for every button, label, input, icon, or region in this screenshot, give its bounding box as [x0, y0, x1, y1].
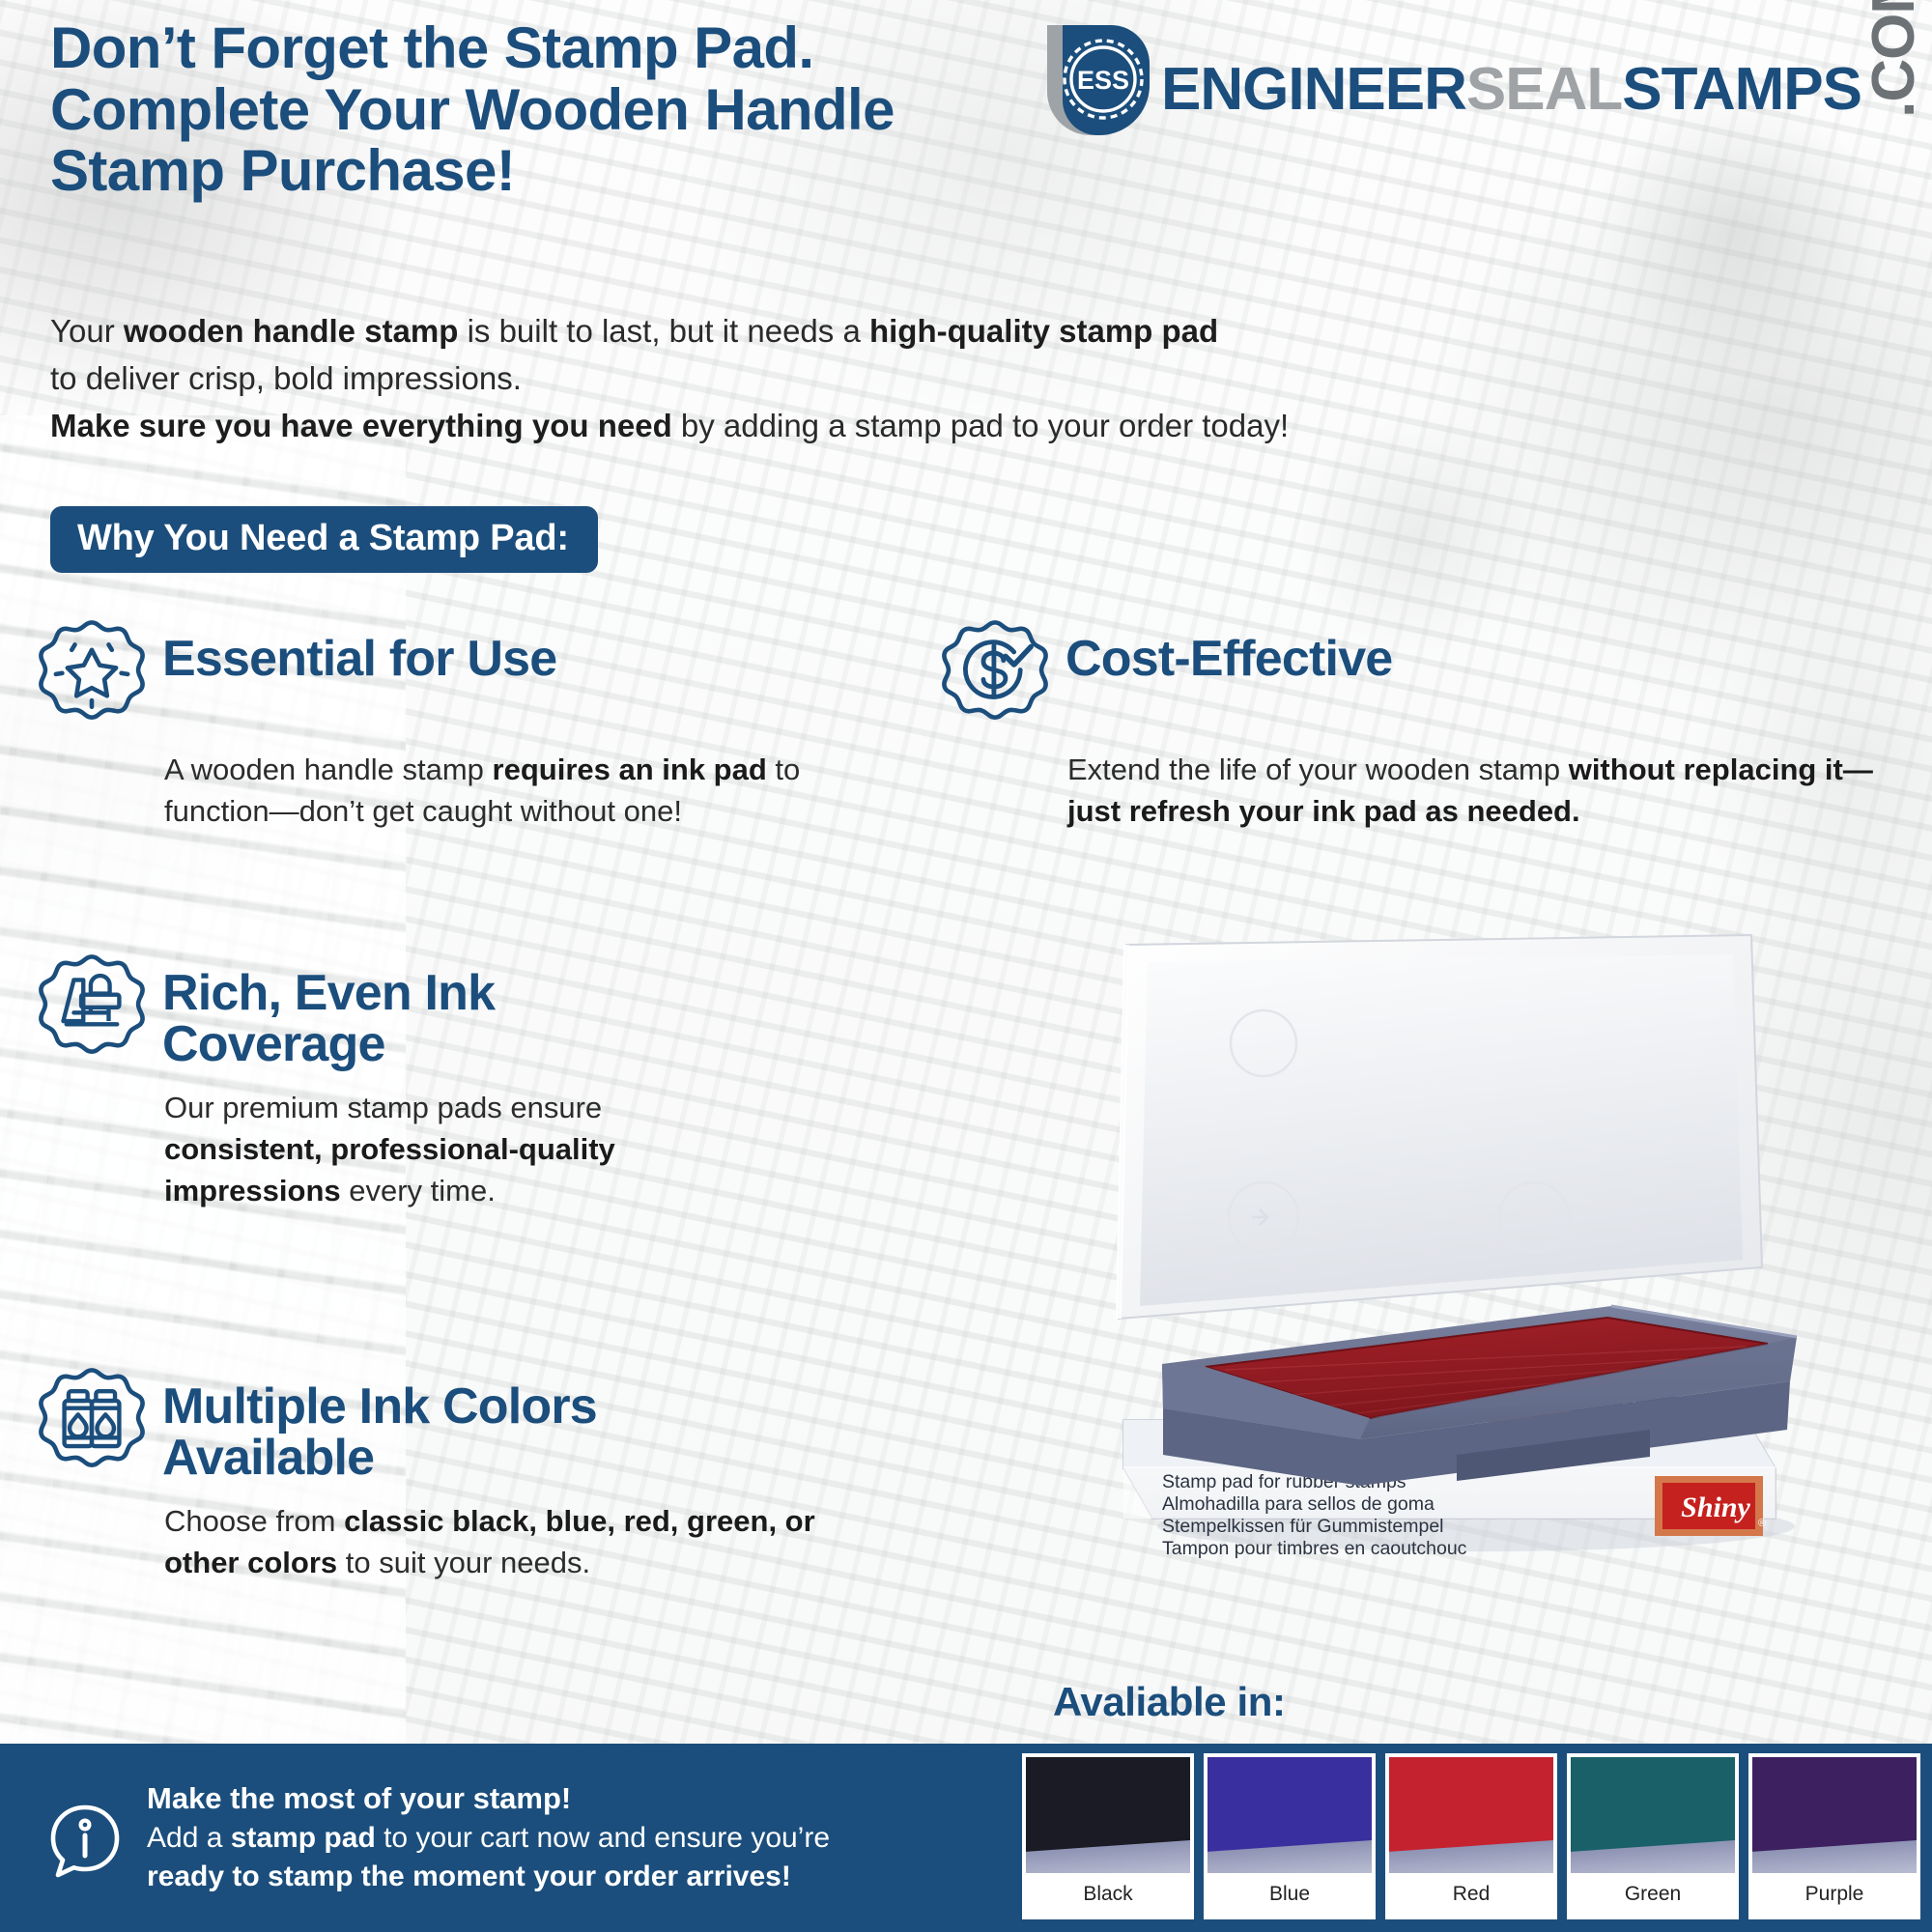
feature-text-plain-2: to suit your needs.: [337, 1546, 590, 1579]
feature-multiple-ink-colors: Multiple Ink Colors Available Choose fro…: [39, 1370, 889, 1584]
svg-text:®: ®: [1758, 1518, 1766, 1529]
available-in-heading: Avaliable in:: [1053, 1679, 1286, 1725]
logo-word-stamps: STAMPS: [1622, 60, 1861, 120]
feature-title: Multiple Ink Colors Available: [162, 1370, 742, 1484]
dollar-check-badge-icon: [942, 618, 1048, 732]
swatch-color-red: [1389, 1757, 1553, 1873]
footer-line-1: Make the most of your stamp!: [147, 1779, 830, 1819]
swatch-blue[interactable]: Blue: [1204, 1753, 1376, 1919]
box-line-de: Stempelkissen für Gummistempel: [1162, 1516, 1444, 1537]
footer-t1: Add a: [147, 1822, 231, 1854]
footer-cta-bar: Make the most of your stamp! Add a stamp…: [0, 1744, 1932, 1932]
feature-title: Essential for Use: [162, 622, 556, 685]
feature-title: Cost-Effective: [1065, 622, 1392, 685]
logo-word-engineer: ENGINEER: [1161, 60, 1466, 120]
ink-bottles-badge-icon: [39, 1366, 145, 1480]
intro-line-2: to deliver crisp, bold impressions.: [50, 356, 1789, 402]
swatch-label: Red: [1389, 1873, 1553, 1916]
feature-header: Cost-Effective: [942, 622, 1908, 732]
footer-content: Make the most of your stamp! Add a stamp…: [0, 1744, 1932, 1932]
swatch-purple[interactable]: Purple: [1748, 1753, 1920, 1919]
feature-text-plain: Extend the life of your wooden stamp: [1067, 753, 1569, 786]
feature-rich-even-ink-coverage: Rich, Even Ink Coverage Our premium stam…: [39, 956, 831, 1211]
product-photo-stamp-pad: C-S Stamp pad for rubber stamps Almohadi…: [1070, 927, 1843, 1565]
swatch-label: Black: [1026, 1873, 1190, 1916]
headline-line-3: Stamp Purchase!: [50, 140, 1190, 202]
shiny-brand-logo: Shiny ®: [1655, 1476, 1766, 1536]
box-line-fr: Tampon pour timbres en caoutchouc: [1162, 1538, 1467, 1559]
feature-body: Our premium stamp pads ensure consistent…: [164, 1088, 753, 1211]
feature-header: Essential for Use: [39, 622, 831, 732]
rubber-stamp-badge-icon: [39, 952, 145, 1066]
intro-line-1: Your wooden handle stamp is built to las…: [50, 309, 1789, 355]
intro-paragraph: Your wooden handle stamp is built to las…: [50, 309, 1789, 451]
box-line-es: Almohadilla para sellos de goma: [1162, 1493, 1435, 1515]
feature-text-plain: Our premium stamp pads ensure: [164, 1091, 602, 1124]
intro-line-3: Make sure you have everything you need b…: [50, 404, 1789, 449]
info-speech-bubble-icon: [44, 1800, 126, 1881]
ess-shield-icon: ESS: [1034, 19, 1157, 137]
headline-line-2: Complete Your Wooden Handle: [50, 79, 1190, 141]
swatch-color-black: [1026, 1757, 1190, 1873]
feature-text-plain-2: every time.: [341, 1174, 496, 1207]
page-title: Don’t Forget the Stamp Pad. Complete You…: [50, 17, 1190, 202]
swatch-label: Green: [1571, 1873, 1735, 1916]
intro-t2: is built to last, but it needs a: [458, 313, 869, 349]
footer-t2: to your cart now and ensure you’re: [376, 1822, 830, 1854]
intro-strong-2: high-quality stamp pad: [869, 313, 1218, 349]
feature-text-plain: A wooden handle stamp: [164, 753, 493, 786]
shiny-logo-text: Shiny: [1681, 1492, 1750, 1523]
feature-body: A wooden handle stamp requires an ink pa…: [164, 750, 802, 833]
footer-line-3: ready to stamp the moment your order arr…: [147, 1858, 830, 1896]
headline-line-1: Don’t Forget the Stamp Pad.: [50, 17, 1190, 79]
swatch-color-green: [1571, 1757, 1735, 1873]
feature-body: Choose from classic black, blue, red, gr…: [164, 1501, 840, 1584]
brand-logo[interactable]: ESS ENGINEER SEAL STAMPS .COM: [1034, 19, 1924, 137]
star-badge-icon: [39, 618, 145, 732]
swatch-red[interactable]: Red: [1385, 1753, 1557, 1919]
swatch-black[interactable]: Black: [1022, 1753, 1194, 1919]
swatch-color-blue: [1207, 1757, 1372, 1873]
why-you-need-banner: Why You Need a Stamp Pad:: [50, 506, 598, 573]
feature-title: Rich, Even Ink Coverage: [162, 956, 665, 1070]
footer-text-block: Make the most of your stamp! Add a stamp…: [147, 1779, 830, 1895]
swatch-label: Blue: [1207, 1873, 1372, 1916]
stamp-pad-lid: [1119, 935, 1762, 1319]
color-swatch-strip: Black Blue Red Green Purple: [1022, 1753, 1920, 1919]
swatch-label: Purple: [1752, 1873, 1917, 1916]
header: Don’t Forget the Stamp Pad. Complete You…: [0, 0, 1932, 241]
feature-cost-effective: Cost-Effective Extend the life of your w…: [942, 622, 1908, 833]
footer-strong: stamp pad: [231, 1822, 376, 1854]
swatch-green[interactable]: Green: [1567, 1753, 1739, 1919]
feature-header: Rich, Even Ink Coverage: [39, 956, 831, 1070]
feature-essential-for-use: Essential for Use A wooden handle stamp …: [39, 622, 831, 833]
feature-header: Multiple Ink Colors Available: [39, 1370, 889, 1484]
intro-t1: Your: [50, 313, 124, 349]
footer-line-2: Add a stamp pad to your cart now and ens…: [147, 1819, 830, 1858]
swatch-color-purple: [1752, 1757, 1917, 1873]
logo-tld: .COM: [1864, 0, 1924, 118]
feature-text-strong: requires an ink pad: [493, 753, 767, 786]
feature-text-plain: Choose from: [164, 1504, 344, 1538]
feature-body: Extend the life of your wooden stamp wit…: [1067, 750, 1889, 833]
intro-t3: by adding a stamp pad to your order toda…: [672, 408, 1289, 443]
logo-mark-text: ESS: [1077, 66, 1129, 95]
logo-wordmark: ENGINEER SEAL STAMPS .COM: [1161, 37, 1924, 120]
logo-word-seal: SEAL: [1466, 60, 1622, 120]
intro-strong-1: wooden handle stamp: [124, 313, 459, 349]
intro-strong-3: Make sure you have everything you need: [50, 408, 672, 443]
